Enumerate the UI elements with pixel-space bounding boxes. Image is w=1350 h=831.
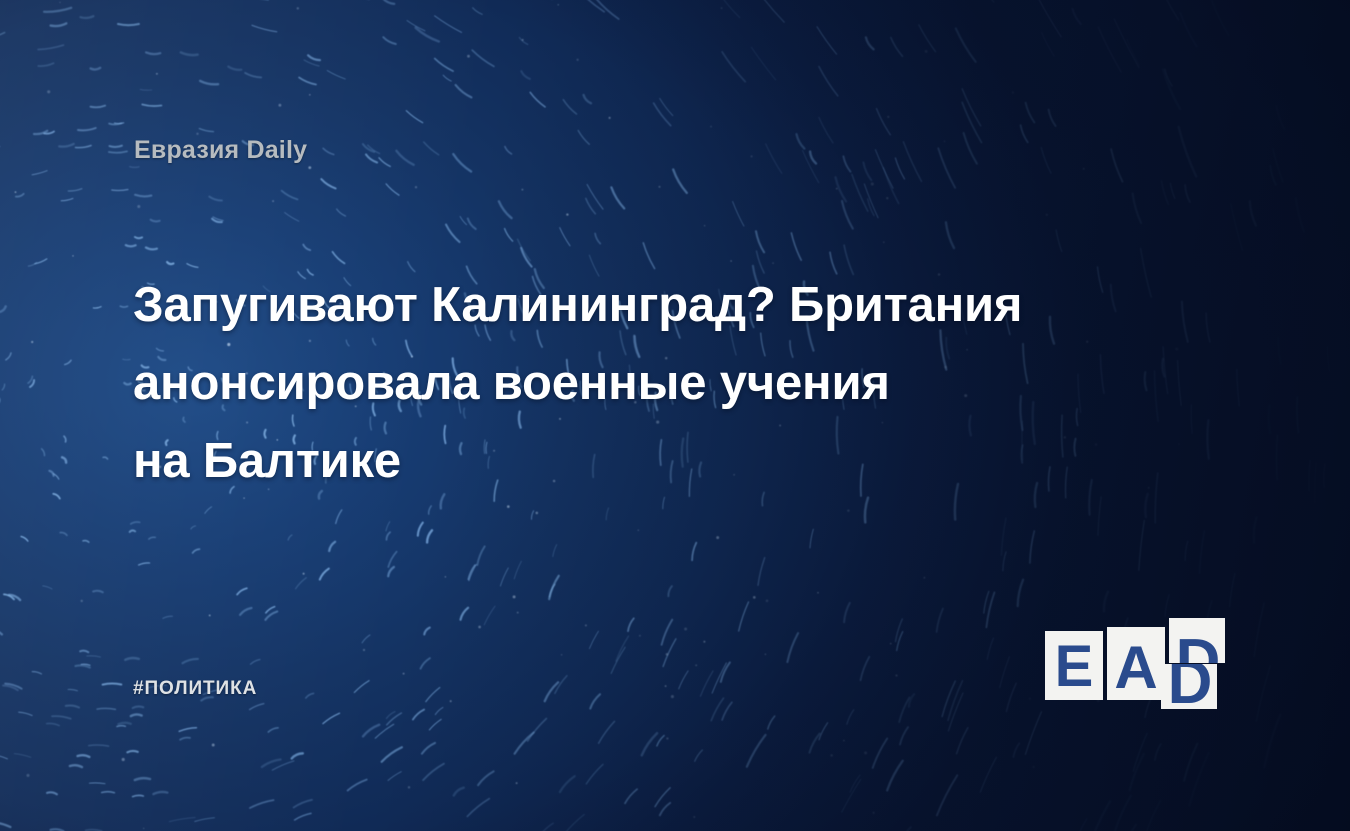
social-card: Евразия Daily Запугивают Калининград? Бр… — [0, 0, 1350, 831]
page-title: Запугивают Калининград? Британия анонсир… — [133, 266, 1133, 500]
category-hashtag[interactable]: #ПОЛИТИКА — [133, 678, 257, 700]
headline-line-3: на Балтике — [133, 422, 1133, 500]
svg-text:A: A — [1114, 634, 1157, 701]
svg-text:E: E — [1055, 634, 1094, 699]
headline-line-1: Запугивают Калининград? Британия — [133, 266, 1133, 344]
headline-line-2: анонсировала военные учения — [133, 344, 1133, 422]
brand-name: Евразия Daily — [134, 136, 307, 165]
ead-logo[interactable]: E A D D — [1043, 618, 1227, 710]
